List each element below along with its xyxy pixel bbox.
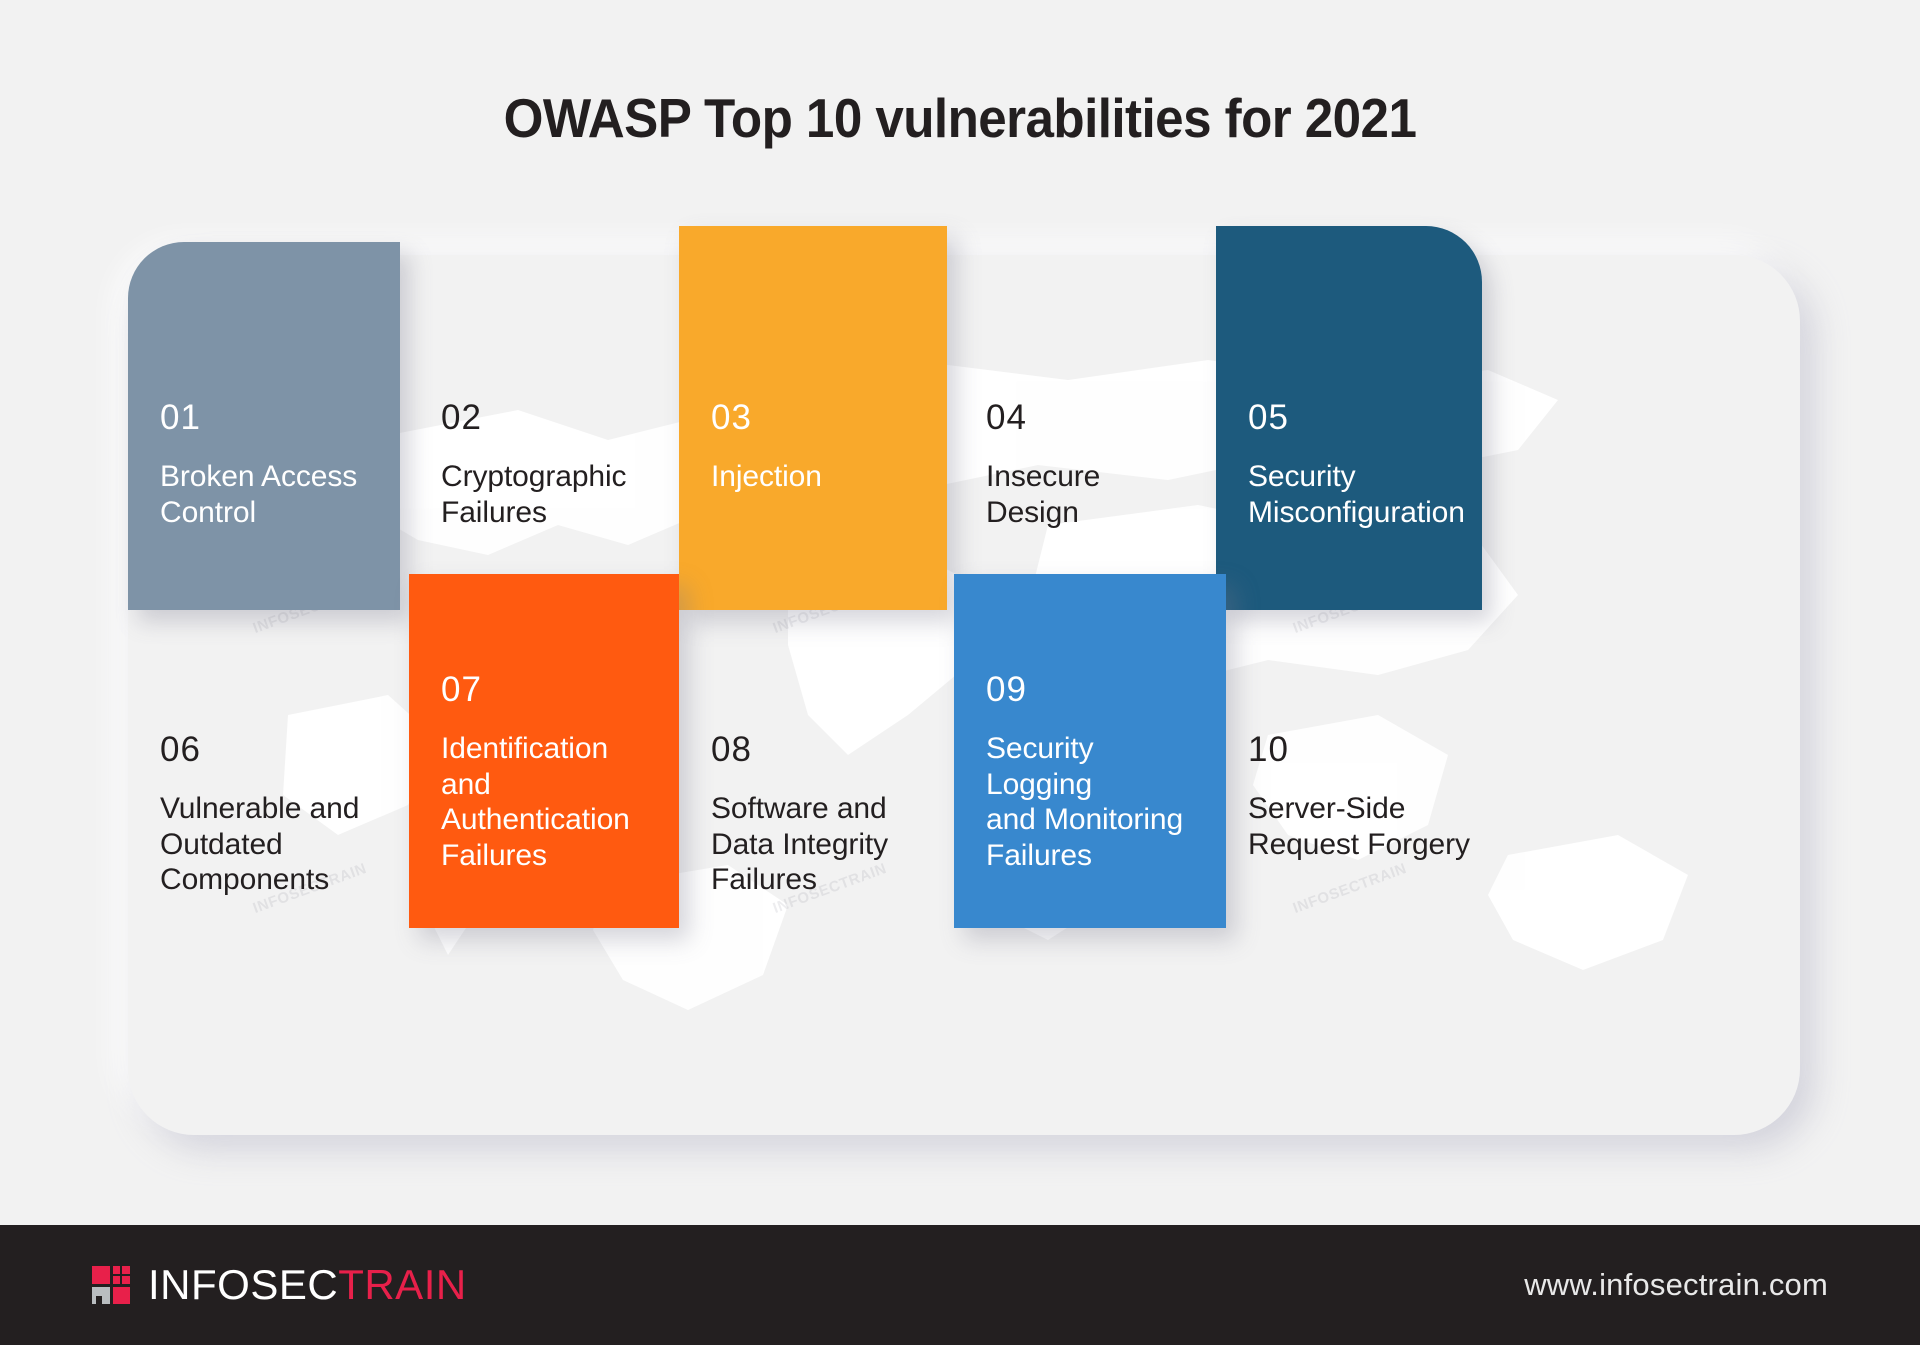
vulnerability-card-04[interactable]: 04 Insecure Design <box>954 242 1234 610</box>
card-number-02: 02 <box>441 400 667 435</box>
brand-train-text: TRAIN <box>338 1261 467 1308</box>
vulnerability-card-05[interactable]: 05 Security Misconfiguration <box>1216 226 1482 610</box>
vulnerability-card-10[interactable]: 10 Server-Side Request Forgery <box>1216 638 1516 968</box>
card-label-04: Insecure Design <box>986 459 1202 530</box>
logo-square-top-right <box>113 1266 131 1284</box>
vulnerability-card-02[interactable]: 02 Cryptographic Failures <box>409 242 699 610</box>
card-label-06: Vulnerable and Outdated Components <box>160 791 386 898</box>
card-label-10: Server-Side Request Forgery <box>1248 791 1484 862</box>
card-number-09: 09 <box>986 672 1194 707</box>
card-label-01: Broken Access Control <box>160 459 368 530</box>
logo-square-bottom-right <box>113 1287 131 1305</box>
card-number-06: 06 <box>160 732 386 767</box>
card-number-03: 03 <box>711 400 915 435</box>
brand-infosec-text: INFOSEC <box>148 1261 338 1308</box>
page-title: OWASP Top 10 vulnerabilities for 2021 <box>67 86 1853 150</box>
website-url[interactable]: www.infosectrain.com <box>1524 1267 1828 1303</box>
card-label-07: Identification and Authentication Failur… <box>441 731 647 874</box>
brand-logo[interactable]: INFOSECTRAIN <box>92 1261 467 1309</box>
vulnerability-card-03[interactable]: 03 Injection <box>679 226 947 610</box>
vulnerability-card-07[interactable]: 07 Identification and Authentication Fai… <box>409 574 679 928</box>
card-number-01: 01 <box>160 400 368 435</box>
vulnerability-card-01[interactable]: 01 Broken Access Control <box>128 242 400 610</box>
card-number-05: 05 <box>1248 400 1450 435</box>
card-label-03: Injection <box>711 459 915 495</box>
card-number-07: 07 <box>441 672 647 707</box>
card-label-09: Security Logging and Monitoring Failures <box>986 731 1194 874</box>
card-number-10: 10 <box>1248 732 1484 767</box>
brand-wordmark: INFOSECTRAIN <box>148 1261 467 1309</box>
vulnerability-grid: 01 Broken Access Control 02 Cryptographi… <box>154 282 1774 1102</box>
vulnerability-card-06[interactable]: 06 Vulnerable and Outdated Components <box>128 638 418 968</box>
card-label-02: Cryptographic Failures <box>441 459 667 530</box>
footer-bar: INFOSECTRAIN www.infosectrain.com <box>0 1225 1920 1345</box>
card-number-04: 04 <box>986 400 1202 435</box>
vulnerability-card-09[interactable]: 09 Security Logging and Monitoring Failu… <box>954 574 1226 928</box>
card-label-08: Software and Data Integrity Failures <box>711 791 937 898</box>
vulnerability-card-08[interactable]: 08 Software and Data Integrity Failures <box>679 638 969 968</box>
card-label-05: Security Misconfiguration <box>1248 459 1450 530</box>
logo-square-bottom-left <box>92 1287 110 1305</box>
infographic-canvas: OWASP Top 10 vulnerabilities for 2021 IN… <box>0 0 1920 1345</box>
logo-square-top-left <box>92 1266 110 1284</box>
card-number-08: 08 <box>711 732 937 767</box>
infosectrain-logo-icon <box>92 1266 130 1304</box>
